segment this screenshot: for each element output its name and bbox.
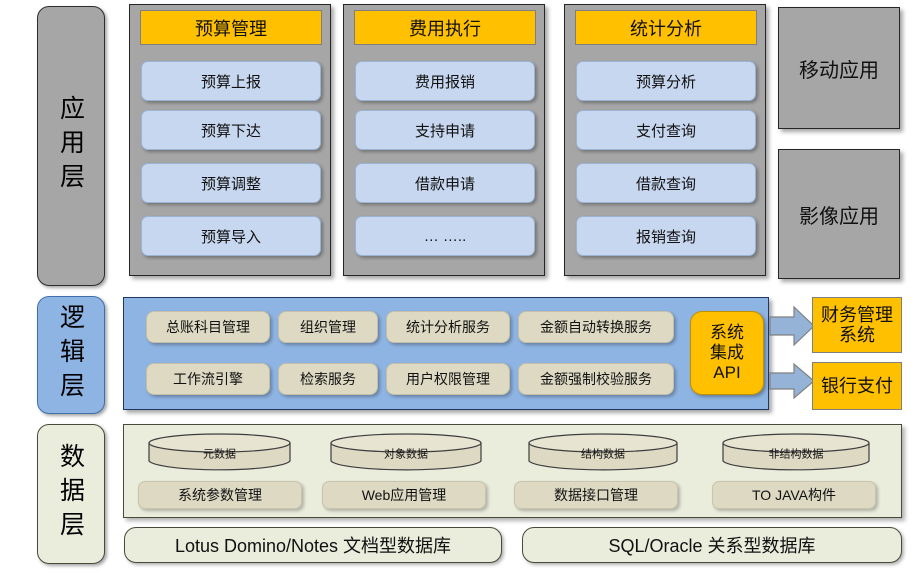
system-integration-api[interactable]: 系统 集成 API	[690, 311, 764, 395]
app-item[interactable]: 支持申请	[355, 110, 535, 150]
api-line-2: 集成	[710, 343, 744, 363]
app-item[interactable]: 报销查询	[576, 216, 756, 256]
data-layer-panel: 元数据 对象数据 结构数据 非结构数据 系统参数管理 Web应用管理	[123, 424, 902, 518]
logic-service[interactable]: 工作流引擎	[146, 363, 270, 395]
data-cylinder-object-data: 对象数据	[330, 433, 482, 471]
logic-service[interactable]: 金额自动转换服务	[518, 311, 674, 343]
logic-service[interactable]: 总账科目管理	[146, 311, 270, 343]
logic-service[interactable]: 组织管理	[278, 311, 378, 343]
logic-service[interactable]: 检索服务	[278, 363, 378, 395]
app-item[interactable]: 支付查询	[576, 110, 756, 150]
external-system-bank[interactable]: 银行支付	[812, 362, 902, 410]
api-line-3: API	[713, 363, 740, 383]
app-item[interactable]: 预算分析	[576, 61, 756, 101]
app-item[interactable]: 预算上报	[141, 61, 321, 101]
architecture-diagram: 应用层 逻辑层 数据层 预算管理 预算上报 预算下达 预算调整 预算导入 费用执…	[0, 0, 914, 573]
data-cylinder-structured-data: 结构数据	[528, 433, 678, 471]
layer-label-application: 应用层	[37, 6, 105, 286]
app-panel-title: 统计分析	[575, 10, 757, 45]
data-cylinder-unstructured-data: 非结构数据	[722, 433, 870, 471]
external-system-finance-line-1: 财务管理	[821, 305, 893, 325]
data-item[interactable]: 系统参数管理	[138, 481, 302, 509]
app-item[interactable]: 预算下达	[141, 110, 321, 150]
app-item[interactable]: 借款申请	[355, 163, 535, 203]
app-item[interactable]: 预算导入	[141, 216, 321, 256]
side-app-mobile[interactable]: 移动应用	[778, 7, 900, 129]
app-panel-statistical-analysis: 统计分析 预算分析 支付查询 借款查询 报销查询	[564, 4, 766, 276]
arrow-to-bank-payment	[770, 363, 814, 403]
logic-service[interactable]: 金额强制校验服务	[518, 363, 674, 395]
logic-layer-panel: 总账科目管理 组织管理 统计分析服务 金额自动转换服务 工作流引擎 检索服务 用…	[123, 297, 769, 410]
logic-service[interactable]: 用户权限管理	[386, 363, 510, 395]
layer-label-data-text: 数据层	[59, 443, 84, 545]
app-panel-title: 预算管理	[140, 10, 322, 45]
app-panel-expense-execution: 费用执行 费用报销 支持申请 借款申请 … …..	[343, 4, 545, 276]
app-item[interactable]: 借款查询	[576, 163, 756, 203]
app-panel-budget-management: 预算管理 预算上报 预算下达 预算调整 预算导入	[129, 4, 331, 276]
app-item[interactable]: 预算调整	[141, 163, 321, 203]
database-sql-oracle[interactable]: SQL/Oracle 关系型数据库	[522, 527, 902, 563]
external-system-finance-line-2: 系统	[839, 325, 875, 345]
data-item[interactable]: Web应用管理	[322, 481, 486, 509]
data-item[interactable]: TO JAVA构件	[712, 481, 876, 509]
database-lotus-domino[interactable]: Lotus Domino/Notes 文档型数据库	[124, 527, 502, 563]
external-system-finance[interactable]: 财务管理 系统	[812, 297, 902, 353]
data-cylinder-metadata: 元数据	[148, 433, 291, 471]
layer-label-application-text: 应用层	[59, 95, 84, 197]
logic-service[interactable]: 统计分析服务	[386, 311, 510, 343]
api-line-1: 系统	[710, 323, 744, 343]
layer-label-data: 数据层	[37, 424, 105, 564]
data-item[interactable]: 数据接口管理	[514, 481, 678, 509]
side-app-imaging[interactable]: 影像应用	[778, 149, 900, 279]
app-item[interactable]: 费用报销	[355, 61, 535, 101]
app-panel-title: 费用执行	[354, 10, 536, 45]
layer-label-logic: 逻辑层	[37, 296, 105, 414]
layer-label-logic-text: 逻辑层	[59, 304, 84, 406]
app-item[interactable]: … …..	[355, 216, 535, 256]
external-system-bank-line-1: 银行支付	[821, 376, 893, 396]
arrow-to-finance-system	[770, 305, 814, 351]
